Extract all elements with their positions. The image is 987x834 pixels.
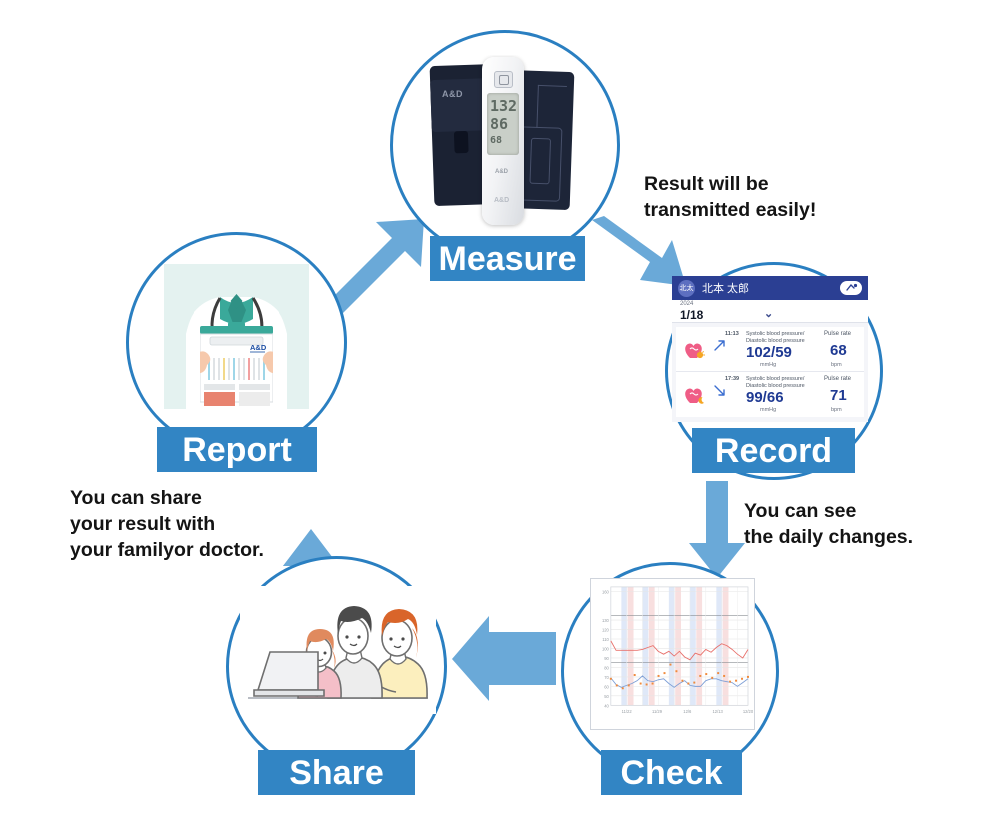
diagram-canvas: 132 86 68 A&D A&D A&D Measure 北太 北本 太郎 bbox=[0, 0, 987, 834]
svg-text:11/22: 11/22 bbox=[622, 709, 633, 714]
node-measure: 132 86 68 A&D A&D A&D bbox=[390, 30, 620, 260]
svg-text:11/29: 11/29 bbox=[652, 709, 663, 714]
node-share-label[interactable]: Share bbox=[258, 750, 415, 795]
svg-text:100: 100 bbox=[602, 646, 610, 651]
record-unit: mmHg bbox=[760, 407, 776, 413]
svg-text:70: 70 bbox=[604, 675, 609, 680]
chevron-down-icon[interactable]: ⌄ bbox=[764, 307, 773, 320]
app-header: 北太 北本 太郎 bbox=[672, 276, 868, 300]
blood-pressure-monitor-icon: 132 86 68 A&D A&D A&D bbox=[420, 55, 590, 230]
user-name: 北本 太郎 bbox=[702, 280, 840, 296]
date-year: 2024 bbox=[680, 301, 693, 307]
note-share: You can share your result with your fami… bbox=[70, 485, 264, 563]
record-time: 11:13 bbox=[725, 331, 739, 337]
node-report: A&D bbox=[126, 232, 347, 453]
node-share bbox=[226, 556, 447, 777]
svg-text:12/6: 12/6 bbox=[683, 709, 692, 714]
svg-text:130: 130 bbox=[602, 618, 610, 623]
svg-text:80: 80 bbox=[604, 665, 609, 670]
heart-sun-icon bbox=[683, 340, 707, 360]
avatar: 北太 bbox=[678, 280, 695, 297]
svg-text:12/20: 12/20 bbox=[743, 709, 754, 714]
svg-text:110: 110 bbox=[602, 637, 609, 642]
node-check-label[interactable]: Check bbox=[601, 750, 742, 795]
node-check: 16013012011010090807060504011/2211/2912/… bbox=[561, 562, 779, 780]
monitor-lcd-systolic: 132 bbox=[490, 97, 517, 115]
record-value: 99/66 bbox=[746, 389, 784, 406]
svg-text:40: 40 bbox=[604, 703, 609, 708]
monitor-brand-sub: A&D bbox=[494, 197, 509, 204]
pulse-value: 71 bbox=[830, 387, 847, 404]
svg-text:60: 60 bbox=[604, 684, 609, 689]
node-report-label[interactable]: Report bbox=[157, 427, 317, 472]
bp-trend-chart: 16013012011010090807060504011/2211/2912/… bbox=[590, 578, 755, 730]
smartphone-app-record-icon: 北太 北本 太郎 2024 1/18 ⌄ bbox=[672, 276, 868, 422]
line-chart-icon: 16013012011010090807060504011/2211/2912/… bbox=[590, 578, 755, 730]
trend-down-icon bbox=[714, 385, 725, 396]
note-daily: You can see the daily changes. bbox=[744, 498, 913, 550]
monitor-lcd-pulse: 68 bbox=[490, 135, 502, 146]
pulse-unit: bpm bbox=[831, 407, 842, 413]
family-at-laptop-icon bbox=[240, 586, 436, 714]
record-value: 102/59 bbox=[746, 344, 792, 361]
svg-text:12/13: 12/13 bbox=[712, 709, 723, 714]
svg-text:90: 90 bbox=[604, 656, 609, 661]
monitor-lcd-diastolic: 86 bbox=[490, 115, 508, 133]
record-unit: mmHg bbox=[760, 362, 776, 368]
pulse-value: 68 bbox=[830, 342, 847, 359]
record-list: 11:13 Systolic blood pressure/ Diastolic… bbox=[672, 323, 868, 422]
date-day: 1/18 bbox=[680, 308, 703, 322]
record-row[interactable]: 17:39 Systolic blood pressure/ Diastolic… bbox=[676, 372, 864, 417]
pulse-unit: bpm bbox=[831, 362, 842, 368]
svg-text:A&D: A&D bbox=[250, 343, 267, 352]
svg-text:50: 50 bbox=[604, 694, 609, 699]
add-record-icon[interactable] bbox=[840, 281, 862, 295]
arrow-check-to-share bbox=[452, 616, 556, 701]
date-selector[interactable]: 2024 1/18 ⌄ bbox=[672, 300, 868, 323]
svg-text:160: 160 bbox=[602, 590, 610, 595]
pulse-label: Pulse rate bbox=[824, 376, 851, 382]
heart-moon-icon bbox=[683, 385, 707, 405]
trend-up-icon bbox=[714, 340, 725, 351]
note-transmit: Result will be transmitted easily! bbox=[644, 171, 816, 223]
record-row[interactable]: 11:13 Systolic blood pressure/ Diastolic… bbox=[676, 327, 864, 372]
monitor-brand: A&D bbox=[495, 169, 508, 175]
cuff-brand-mark: A&D bbox=[442, 89, 463, 99]
pulse-label: Pulse rate bbox=[824, 331, 851, 337]
record-time: 17:39 bbox=[725, 376, 739, 382]
svg-text:120: 120 bbox=[602, 628, 610, 633]
doctor-with-clipboard-icon: A&D bbox=[164, 264, 309, 409]
node-measure-label[interactable]: Measure bbox=[430, 236, 585, 281]
node-record-label[interactable]: Record bbox=[692, 428, 855, 473]
